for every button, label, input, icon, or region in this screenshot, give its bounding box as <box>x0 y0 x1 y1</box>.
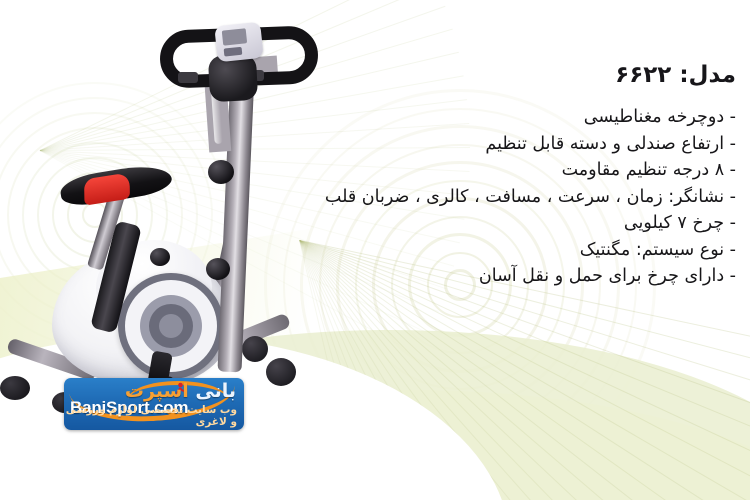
advertisement-canvas: مدل: ۶۶۲۲ - دوچرخه مغناطیسی - ارتفاع صند… <box>0 0 750 500</box>
feature-item: - دارای چرخ برای حمل و نقل آسان <box>216 263 736 290</box>
feature-list: - دوچرخه مغناطیسی - ارتفاع صندلی و دسته … <box>216 104 736 290</box>
watermark-logo-banisport[interactable]: بانی اسپرت BaniSport.com وب سایت تخصصی ل… <box>64 378 244 430</box>
transport-wheel-bottom <box>266 358 296 386</box>
specification-block: مدل: ۶۶۲۲ - دوچرخه مغناطیسی - ارتفاع صند… <box>216 62 736 290</box>
flywheel-hub <box>159 314 183 338</box>
console-buttons <box>224 47 243 57</box>
feature-item: - نشانگر: زمان ، سرعت ، مسافت ، کالری ، … <box>216 184 736 211</box>
lcd-screen <box>222 28 247 45</box>
logo-brand-fa-primary: بانی <box>195 380 236 402</box>
feature-item: - دوچرخه مغناطیسی <box>216 104 736 131</box>
feature-item: - نوع سیستم: مگنتیک <box>216 237 736 264</box>
seat-adjust-knob <box>150 248 170 266</box>
feature-item: - چرخ ۷ کیلویی <box>216 210 736 237</box>
hand-pulse-sensor-left <box>178 72 198 83</box>
logo-tagline: وب سایت تخصصی لوازم ورزشی و لاغری <box>64 404 237 428</box>
feature-item: - ارتفاع صندلی و دسته قابل تنظیم <box>216 131 736 158</box>
console-display <box>214 22 264 63</box>
feature-item: - ۸ درجه تنظیم مقاومت <box>216 157 736 184</box>
transport-wheel-top <box>242 336 268 362</box>
model-line: مدل: ۶۶۲۲ <box>216 62 736 88</box>
rear-foot-left <box>0 376 30 400</box>
